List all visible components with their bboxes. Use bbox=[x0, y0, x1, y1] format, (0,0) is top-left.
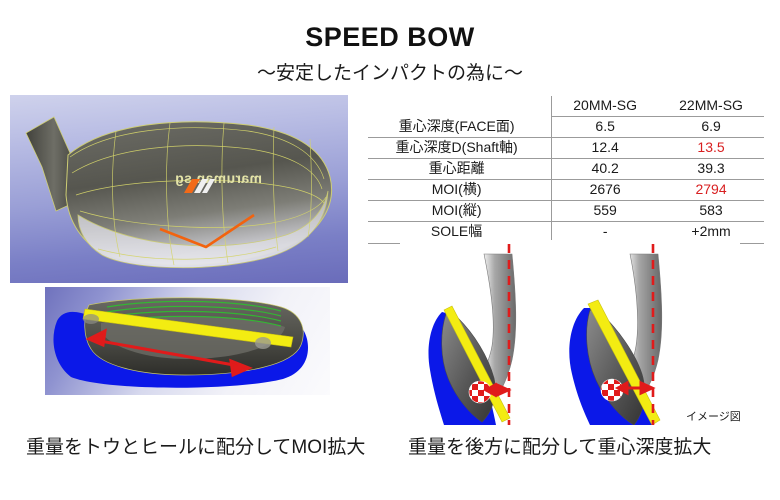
cross-section-20-svg bbox=[400, 240, 580, 425]
caption-left-moi: 重量をトウとヒールに配分してMOI拡大 bbox=[26, 432, 365, 459]
spec-table-head: 20MM-SG 22MM-SG bbox=[368, 96, 764, 117]
column-header-blank bbox=[368, 96, 552, 117]
iron-side-view-svg: maruman sg bbox=[10, 95, 348, 283]
cell-22mm: 13.5 bbox=[658, 138, 764, 159]
iron-rear-cavity-cad bbox=[45, 287, 330, 395]
cell-22mm: 6.9 bbox=[658, 117, 764, 138]
cell-22mm: 2794 bbox=[658, 180, 764, 201]
table-row: 重心深度D(Shaft軸) 12.4 13.5 bbox=[368, 138, 764, 159]
cross-section-20mm-sg bbox=[400, 240, 580, 425]
cell-22mm: 583 bbox=[658, 201, 764, 222]
caption-right-cg-depth: 重量を後方に配分して重心深度拡大 bbox=[408, 432, 711, 459]
row-label: 重心深度(FACE面) bbox=[368, 117, 552, 138]
row-label: MOI(縦) bbox=[368, 201, 552, 222]
table-row: MOI(横) 2676 2794 bbox=[368, 180, 764, 201]
page-title: SPEED BOW bbox=[0, 22, 780, 53]
table-row: 重心距離 40.2 39.3 bbox=[368, 159, 764, 180]
iron-side-view-cad: maruman sg bbox=[10, 95, 348, 283]
cg-depth-arrow bbox=[486, 385, 508, 395]
cell-20mm: 2676 bbox=[552, 180, 658, 201]
table-header-row: 20MM-SG 22MM-SG bbox=[368, 96, 764, 117]
cell-20mm: 559 bbox=[552, 201, 658, 222]
image-note-label: イメージ図 bbox=[686, 408, 741, 424]
column-header-20mm: 20MM-SG bbox=[552, 96, 658, 117]
page-subtitle: 〜安定したインパクトの為に〜 bbox=[0, 58, 780, 85]
column-header-22mm: 22MM-SG bbox=[658, 96, 764, 117]
spec-table-body: 重心深度(FACE面) 6.5 6.9 重心深度D(Shaft軸) 12.4 1… bbox=[368, 117, 764, 243]
table-row: MOI(縦) 559 583 bbox=[368, 201, 764, 222]
brand-text: maruman sg bbox=[175, 170, 262, 186]
cell-20mm: 12.4 bbox=[552, 138, 658, 159]
cell-20mm: 40.2 bbox=[552, 159, 658, 180]
row-label: 重心深度D(Shaft軸) bbox=[368, 138, 552, 159]
cross-section-22mm-sg bbox=[560, 240, 740, 425]
cross-section-22-svg bbox=[560, 240, 740, 425]
heel-port bbox=[83, 314, 99, 324]
brand-badge: maruman sg bbox=[175, 170, 262, 186]
cavity-port bbox=[255, 337, 271, 349]
spec-table: 20MM-SG 22MM-SG 重心深度(FACE面) 6.5 6.9 重心深度… bbox=[368, 96, 764, 244]
row-label: 重心距離 bbox=[368, 159, 552, 180]
row-label: MOI(横) bbox=[368, 180, 552, 201]
table-row: 重心深度(FACE面) 6.5 6.9 bbox=[368, 117, 764, 138]
cell-22mm: 39.3 bbox=[658, 159, 764, 180]
slide-root: SPEED BOW 〜安定したインパクトの為に〜 20MM-SG 22MM-SG… bbox=[0, 0, 780, 500]
cell-20mm: 6.5 bbox=[552, 117, 658, 138]
iron-rear-cavity-svg bbox=[45, 287, 330, 395]
